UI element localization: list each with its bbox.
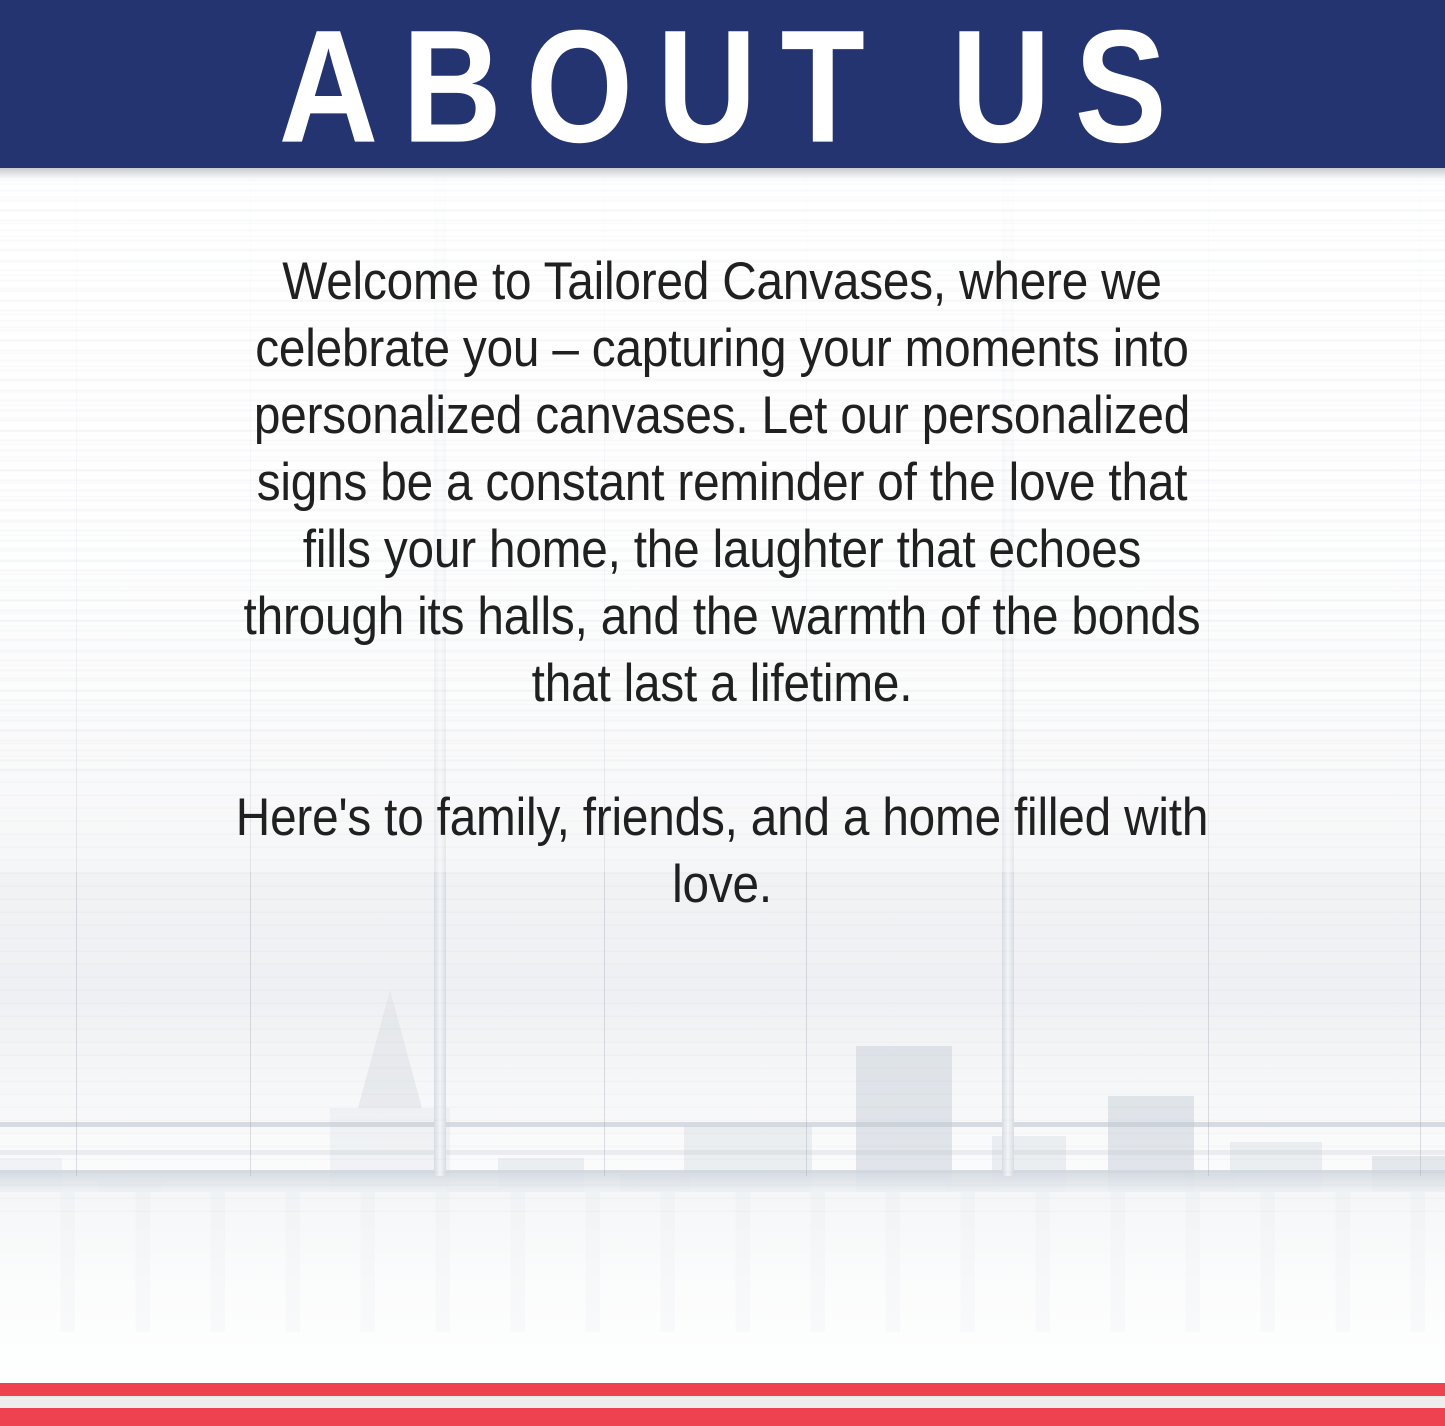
footer-red-bar-bottom <box>0 1408 1445 1426</box>
header-drop-shadow <box>0 168 1445 180</box>
footer-gap <box>0 1396 1445 1408</box>
about-paragraph-2: Here's to family, friends, and a home fi… <box>227 784 1217 918</box>
about-us-card: ABOUT US Welcome to Tailored Canvases, w… <box>0 0 1445 1426</box>
about-copy: Welcome to Tailored Canvases, where we c… <box>227 248 1217 918</box>
author-block: Founder of Tailored Canvases <box>0 1040 1445 1340</box>
page-title: ABOUT US <box>255 6 1191 167</box>
footer-red-bar-top <box>0 1383 1445 1396</box>
header-bar: ABOUT US <box>0 0 1445 168</box>
paragraph-spacer <box>227 717 1217 784</box>
about-paragraph-1: Welcome to Tailored Canvases, where we c… <box>227 248 1217 717</box>
